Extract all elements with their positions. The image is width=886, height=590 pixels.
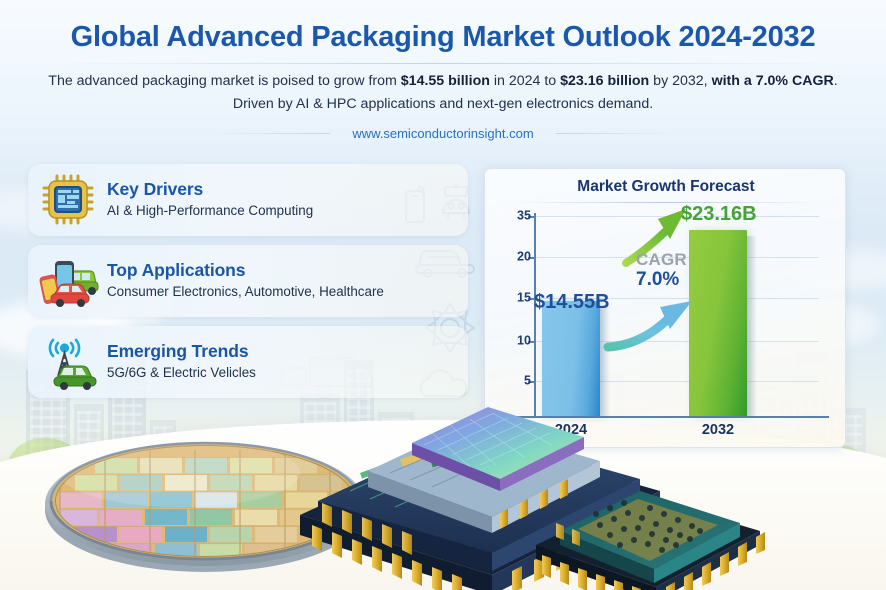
card-text: Top Applications Consumer Electronics, A… bbox=[107, 260, 468, 301]
bar-value-label-2024: $14.55B bbox=[534, 291, 610, 314]
card-description: AI & High-Performance Computing bbox=[107, 203, 468, 219]
source-url[interactable]: www.semiconductorinsight.com bbox=[0, 126, 886, 141]
page-title: Global Advanced Packaging Market Outlook… bbox=[0, 21, 886, 54]
card-text: Key Drivers AI & High-Performance Comput… bbox=[107, 179, 468, 220]
card-description: Consumer Electronics, Automotive, Health… bbox=[107, 284, 468, 300]
card-title: Top Applications bbox=[107, 260, 468, 280]
y-axis-tick-label: 5 bbox=[491, 375, 531, 388]
cagr-annotation-label: CAGR bbox=[636, 250, 687, 270]
y-axis-tick-label: 35 bbox=[491, 210, 531, 223]
subtitle: The advanced packaging market is poised … bbox=[46, 70, 840, 116]
infographic-poster: Global Advanced Packaging Market Outlook… bbox=[0, 0, 886, 590]
card-description: 5G/6G & Electric Velicles bbox=[107, 365, 468, 381]
subtitle-text-1: The advanced packaging market is poised … bbox=[48, 73, 401, 89]
y-axis-tick-label: 10 bbox=[491, 335, 531, 348]
subtitle-value-2024: $14.55 billion bbox=[401, 73, 490, 89]
card-key-drivers[interactable]: Key Drivers AI & High-Performance Comput… bbox=[28, 164, 468, 236]
subtitle-value-2032: $23.16 billion bbox=[560, 73, 649, 89]
header: Global Advanced Packaging Market Outlook… bbox=[0, 0, 886, 146]
subtitle-cagr: with a 7.0% CAGR bbox=[712, 73, 834, 89]
card-title: Key Drivers bbox=[107, 179, 468, 199]
y-axis-line bbox=[534, 213, 536, 416]
semiconductor-illustration bbox=[0, 395, 886, 590]
microchip-icon bbox=[37, 172, 99, 228]
subtitle-text-3: by 2032, bbox=[649, 73, 711, 89]
header-divider bbox=[60, 63, 826, 64]
card-emerging-trends[interactable]: Emerging Trends 5G/6G & Electric Velicle… bbox=[28, 326, 468, 398]
signal-tower-ev-icon bbox=[37, 334, 99, 390]
card-top-applications[interactable]: Top Applications Consumer Electronics, A… bbox=[28, 245, 468, 317]
card-title: Emerging Trends bbox=[107, 341, 468, 361]
y-axis-tick-label: 15 bbox=[491, 292, 531, 305]
y-axis-tick-label: 20 bbox=[491, 251, 531, 264]
subtitle-text-2: in 2024 to bbox=[490, 73, 560, 89]
bar-value-label-2032: $23.16B bbox=[681, 203, 757, 226]
cagr-annotation-value: 7.0% bbox=[636, 269, 679, 291]
feature-cards: Key Drivers AI & High-Performance Comput… bbox=[28, 164, 468, 407]
devices-vehicles-icon bbox=[37, 253, 99, 309]
card-text: Emerging Trends 5G/6G & Electric Velicle… bbox=[107, 341, 468, 382]
